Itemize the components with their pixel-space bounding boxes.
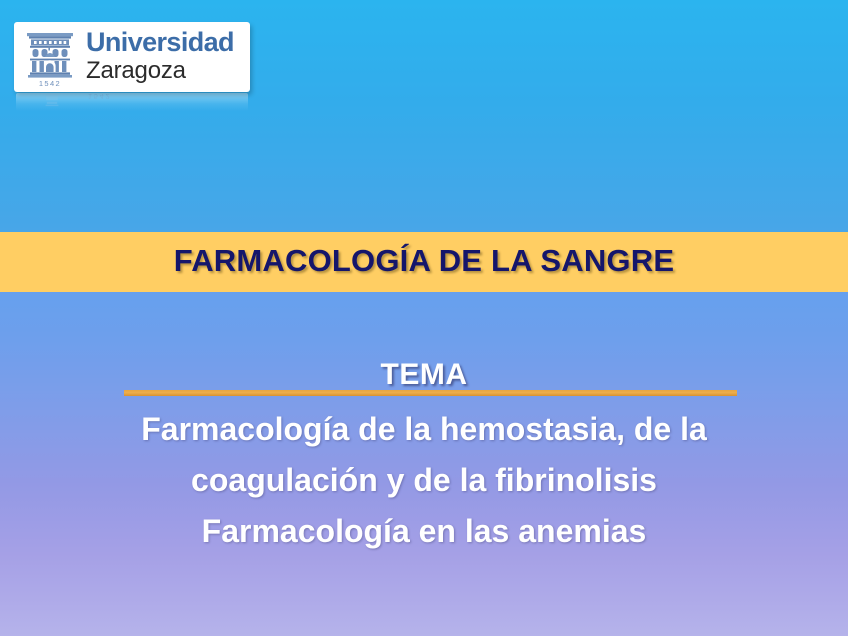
logo-reflection-text: 1542 <box>88 93 112 99</box>
subject-line-1: Farmacología de la hemostasia, de la <box>0 404 848 455</box>
svg-text:1542: 1542 <box>39 79 61 88</box>
tema-underline-rule <box>124 390 737 396</box>
logo-reflection: 1542 <box>16 93 248 111</box>
presentation-slide: 1542 <box>0 0 848 636</box>
subject-title-block: Farmacología de la hemostasia, de la coa… <box>0 404 848 558</box>
logo-zaragoza-text: Zaragoza <box>86 58 234 83</box>
classical-building-icon: 1542 <box>22 26 78 88</box>
slide-headline: FARMACOLOGÍA DE LA SANGRE <box>0 243 848 279</box>
logo-universidad-text: Universidad <box>86 29 234 57</box>
tema-label: TEMA <box>0 358 848 392</box>
subject-line-2: coagulación y de la fibrinolisis <box>0 455 848 506</box>
subject-line-3: Farmacología en las anemias <box>0 506 848 557</box>
logo-reflection-building-icon <box>24 93 80 109</box>
university-logo[interactable]: 1542 Universidad Zaragoza <box>14 22 250 92</box>
logo-wordmark: Universidad Zaragoza <box>86 29 234 85</box>
